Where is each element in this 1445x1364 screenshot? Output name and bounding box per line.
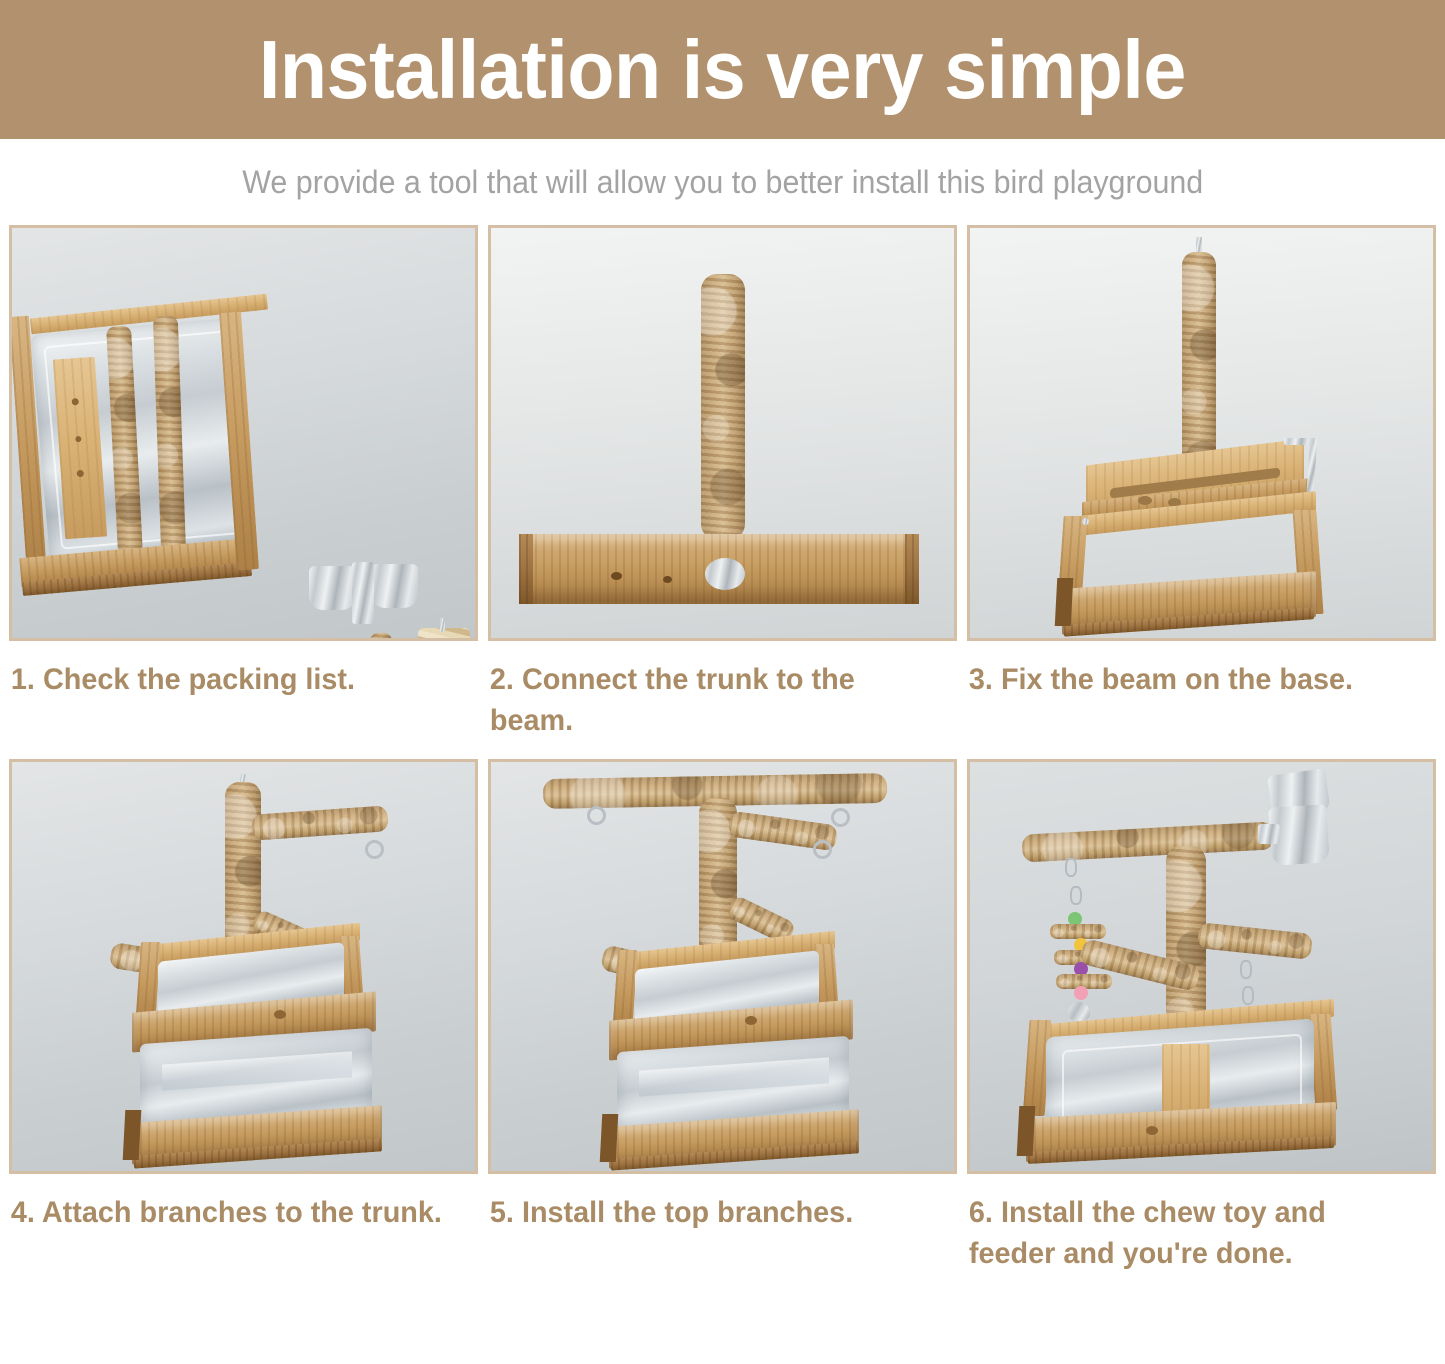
step-4-caption: 4. Attach branches to the trunk. <box>9 1174 459 1292</box>
base-frame-left-corner-shadow <box>123 1110 142 1160</box>
beam-knot-1 <box>611 572 622 580</box>
base-frame-left-corner-shadow <box>600 1114 619 1162</box>
upper-branch-eyelet <box>365 840 384 859</box>
beam-right-end-cap <box>905 534 919 604</box>
feeder-clamp-bracket <box>352 562 374 624</box>
hex-key-short-arm <box>1284 438 1314 445</box>
step-1: 1. Check the packing list. <box>9 225 478 759</box>
step-5-caption: 5. Install the top branches. <box>488 1174 938 1292</box>
step-3-caption: 3. Fix the beam on the base. <box>967 641 1417 759</box>
step-2-caption: 2. Connect the trunk to the beam. <box>488 641 938 759</box>
installation-steps-grid: 1. Check the packing list. 2. Connect th… <box>0 225 1445 1292</box>
beam-knot-2 <box>663 576 672 583</box>
mid-branch-eyelet <box>813 840 832 859</box>
base-frame-left-corner-shadow <box>1055 578 1074 626</box>
step-6-caption: 6. Install the chew toy and feeder and y… <box>967 1174 1417 1292</box>
trunk-branch <box>701 274 745 540</box>
step-1-caption: 1. Check the packing list. <box>9 641 459 759</box>
step-3-photo <box>967 225 1436 641</box>
step-5: 5. Install the top branches. <box>488 759 957 1292</box>
beam-left-end-cap <box>519 534 533 604</box>
ladder-bell <box>1068 1002 1090 1021</box>
loofah-hook <box>440 618 445 632</box>
loofah-toy-clip-upper <box>1240 960 1252 979</box>
feeder-cup-left <box>309 566 356 610</box>
step-4: 4. Attach branches to the trunk. <box>9 759 478 1292</box>
connector-bolt-washer <box>705 558 745 590</box>
beam-knot <box>274 1010 286 1019</box>
step-3: 3. Fix the beam on the base. <box>967 225 1436 759</box>
feeder-clamp-bracket <box>1258 824 1280 844</box>
top-cross-branch <box>1021 821 1274 862</box>
step-4-photo <box>9 759 478 1174</box>
beam-knot <box>745 1016 757 1025</box>
ladder-toy-clip-lower <box>1070 886 1082 905</box>
base-screw-left <box>1082 518 1089 525</box>
top-branch-eyelet-left <box>587 806 606 825</box>
header-banner: Installation is very simple <box>0 0 1445 139</box>
mid-side-branch-right <box>1197 922 1313 960</box>
ladder-bead-pink <box>1074 986 1088 1000</box>
page-subtitle: We provide a tool that will allow you to… <box>242 164 1203 200</box>
base-frame-front-knot <box>1146 1126 1158 1135</box>
step-5-photo <box>488 759 957 1174</box>
loofah-toy-clip-lower <box>1242 986 1254 1005</box>
beam-screw-hole-1 <box>1138 496 1152 505</box>
subtitle-bar: We provide a tool that will allow you to… <box>0 139 1445 225</box>
upper-side-branch <box>251 805 388 840</box>
step-2-photo <box>488 225 957 641</box>
step-1-photo <box>9 225 478 641</box>
step-6-photo <box>967 759 1436 1174</box>
feeder-cup-right <box>371 564 418 608</box>
short-branch-perch-3 <box>370 633 392 641</box>
step-2: 2. Connect the trunk to the beam. <box>488 225 957 759</box>
top-branch-eyelet-right <box>831 808 850 827</box>
base-frame-left-corner-shadow <box>1017 1106 1036 1156</box>
page-title: Installation is very simple <box>259 26 1186 114</box>
ladder-rung-1 <box>1050 924 1106 939</box>
ladder-toy-clip-upper <box>1065 858 1077 877</box>
step-6: 6. Install the chew toy and feeder and y… <box>967 759 1436 1292</box>
